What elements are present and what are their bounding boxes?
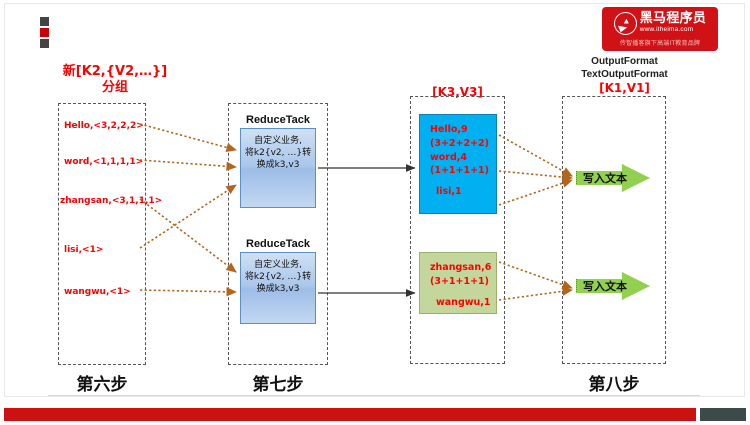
group-title-line1: 新[K2,{V2,…}] [40,64,190,80]
group-item-zhangsan: zhangsan,<3,1,1,1> [60,196,162,206]
reduce-task-2-title: ReduceTack [228,238,328,250]
bottom-bar-red [4,408,696,421]
result-green-line-3: wangwu,1 [430,296,496,310]
group-item-wangwu: wangwu,<1> [64,287,131,297]
logo-url: www.itheima.com [640,27,707,34]
result-cyan-line-4: (1+1+1+1) [430,164,496,178]
group-item-word: word,<1,1,1,1> [64,157,143,167]
stage-six-container [58,103,146,365]
reduce-task-2-line1: 自定义业务, [243,259,313,271]
result-cyan-spacer [430,178,496,185]
result-cyan-line-2: (3+2+2+2) [430,137,496,151]
k1v1-label: [K1,V1] [552,81,697,96]
step-label-seven: 第七步 [228,370,328,395]
result-green-spacer [430,289,496,296]
output-format-label: OutputFormat [552,56,697,69]
logo-words: 黑马程序员 www.itheima.com [640,12,707,34]
bottom-hairline [48,395,700,396]
reduce-task-2-box: 自定义业务, 将k2{v2, …}转 换成k3,v3 [240,252,316,324]
result-cyan-line-1: Hello,9 [430,123,496,137]
decoration-square-dark-top [40,17,49,26]
reduce-task-1-box: 自定义业务, 将k2{v2, …}转 换成k3,v3 [240,128,316,208]
decoration-square-dark-bottom [40,39,49,48]
stage-eight-output-container [562,96,666,364]
reduce-task-2-line3: 换成k3,v3 [243,283,313,295]
result-green-line-1: zhangsan,6 [430,261,496,275]
horse-head-icon [614,12,637,35]
brand-logo: 黑马程序员 www.itheima.com 传智播客旗下高端IT教育品牌 [602,7,718,51]
write-text-arrow-2-label: 写入文本 [583,278,627,294]
result-cyan-line-3: word,4 [430,151,496,165]
group-item-hello: Hello,<3,2,2,2> [64,121,144,131]
text-output-format-label: TextOutputFormat [552,69,697,82]
group-title: 新[K2,{V2,…}] 分组 [40,64,190,97]
reduce-task-2-line2: 将k2{v2, …}转 [243,271,313,283]
output-format-heading: OutputFormat TextOutputFormat [K1,V1] [552,56,697,96]
result-box-green: zhangsan,6 (3+1+1+1) wangwu,1 [419,252,497,314]
slide-canvas: 黑马程序员 www.itheima.com 传智播客旗下高端IT教育品牌 新[K… [0,0,750,425]
reduce-task-1-line1: 自定义业务, [243,135,313,147]
logo-top-row: 黑马程序员 www.itheima.com [614,12,707,35]
write-text-arrow-1-label: 写入文本 [583,170,627,186]
logo-name: 黑马程序员 [640,12,707,25]
result-box-cyan: Hello,9 (3+2+2+2) word,4 (1+1+1+1) lisi,… [419,114,497,214]
reduce-task-1-line2: 将k2{v2, …}转 [243,147,313,159]
bottom-bar-dark [700,408,746,421]
logo-tagline: 传智播客旗下高端IT教育品牌 [620,38,700,47]
decoration-square-red [40,28,49,37]
result-green-line-2: (3+1+1+1) [430,275,496,289]
reduce-task-1-line3: 换成k3,v3 [243,159,313,171]
result-cyan-line-5: lisi,1 [430,185,496,199]
reduce-task-1-title: ReduceTack [228,114,328,126]
step-label-eight: 第八步 [562,370,666,395]
group-item-lisi: lisi,<1> [64,245,103,255]
step-label-six: 第六步 [58,370,146,395]
group-title-line2: 分组 [40,80,190,96]
